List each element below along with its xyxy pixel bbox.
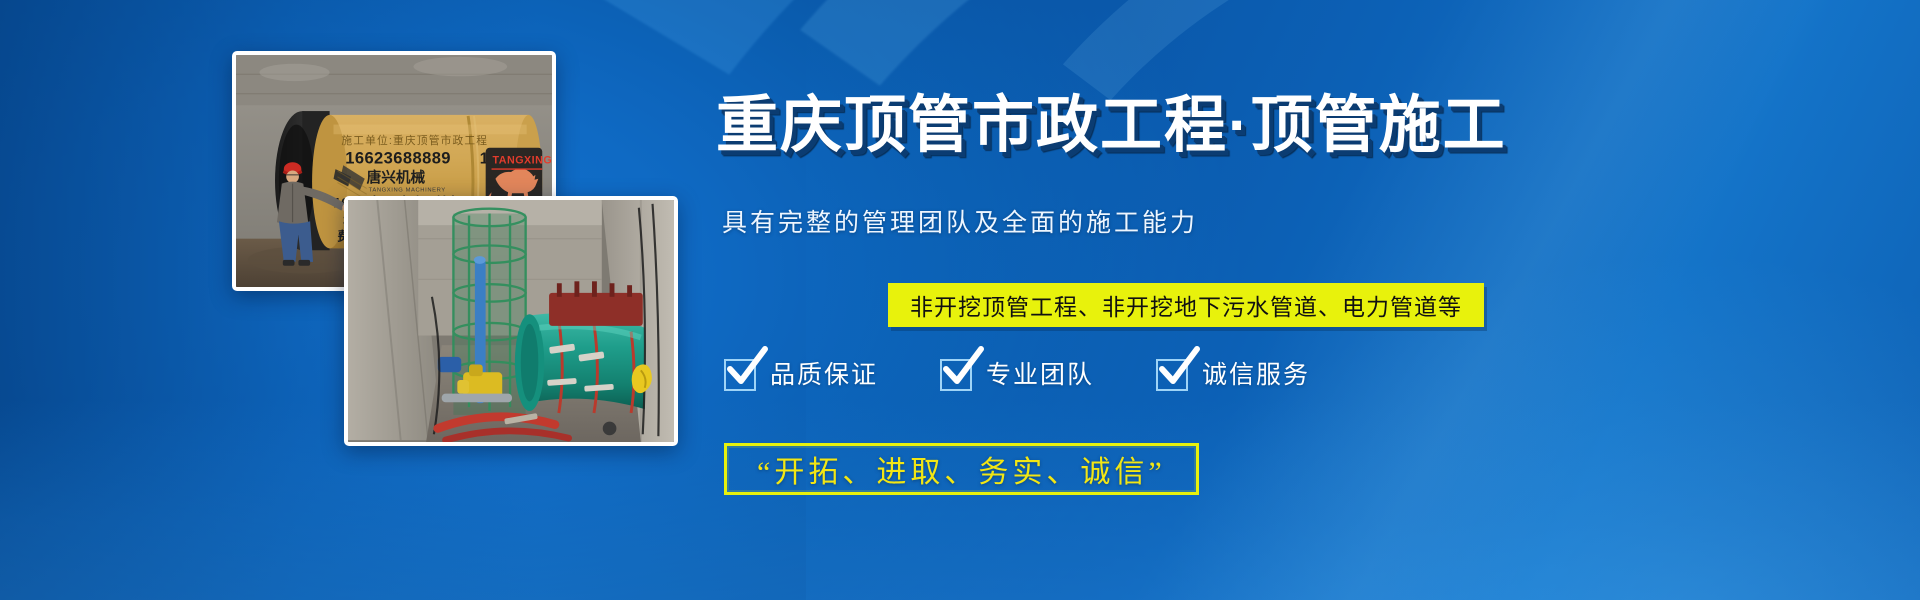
check-icon	[940, 355, 976, 391]
svg-text:16623688889: 16623688889	[345, 149, 451, 167]
feature-label: 品质保证	[770, 355, 878, 391]
feature-list: 品质保证 专业团队 诚信服务	[716, 355, 1310, 391]
svg-text:TANGXING: TANGXING	[493, 154, 552, 166]
feature-label: 专业团队	[986, 355, 1094, 391]
feature-label: 诚信服务	[1202, 355, 1310, 391]
svg-text:施工单位:重庆顶管市政工程: 施工单位:重庆顶管市政工程	[341, 134, 488, 147]
site-photo-graphic	[348, 200, 674, 442]
scope-text: 非开挖顶管工程、非开挖地下污水管道、电力管道等	[910, 288, 1462, 322]
scope-highlight-bar: 非开挖顶管工程、非开挖地下污水管道、电力管道等	[888, 283, 1484, 327]
feature-item-team[interactable]: 专业团队	[940, 355, 1094, 391]
svg-text:唐兴机械: 唐兴机械	[367, 169, 426, 187]
banner-subtitle: 具有完整的管理团队及全面的施工能力	[722, 203, 1198, 239]
slogan-box: “开拓、进取、务实、诚信”	[724, 443, 1199, 495]
feature-item-quality[interactable]: 品质保证	[724, 355, 878, 391]
check-icon	[724, 355, 760, 391]
promotional-banner: 施工单位:重庆顶管市政工程 16623688889 13002 唐兴机械 TAN…	[0, 0, 1920, 600]
page-title: 重庆顶管市政工程·顶管施工	[716, 95, 1507, 157]
pipe-jacking-site-photo[interactable]	[344, 196, 678, 446]
banner-content: 重庆顶管市政工程·顶管施工 具有完整的管理团队及全面的施工能力 非开挖顶管工程、…	[716, 0, 1896, 600]
svg-text:TANGXING MACHINERY: TANGXING MACHINERY	[369, 187, 446, 193]
feature-item-service[interactable]: 诚信服务	[1156, 355, 1310, 391]
slogan-text: “开拓、进取、务实、诚信”	[757, 447, 1166, 491]
check-icon	[1156, 355, 1192, 391]
